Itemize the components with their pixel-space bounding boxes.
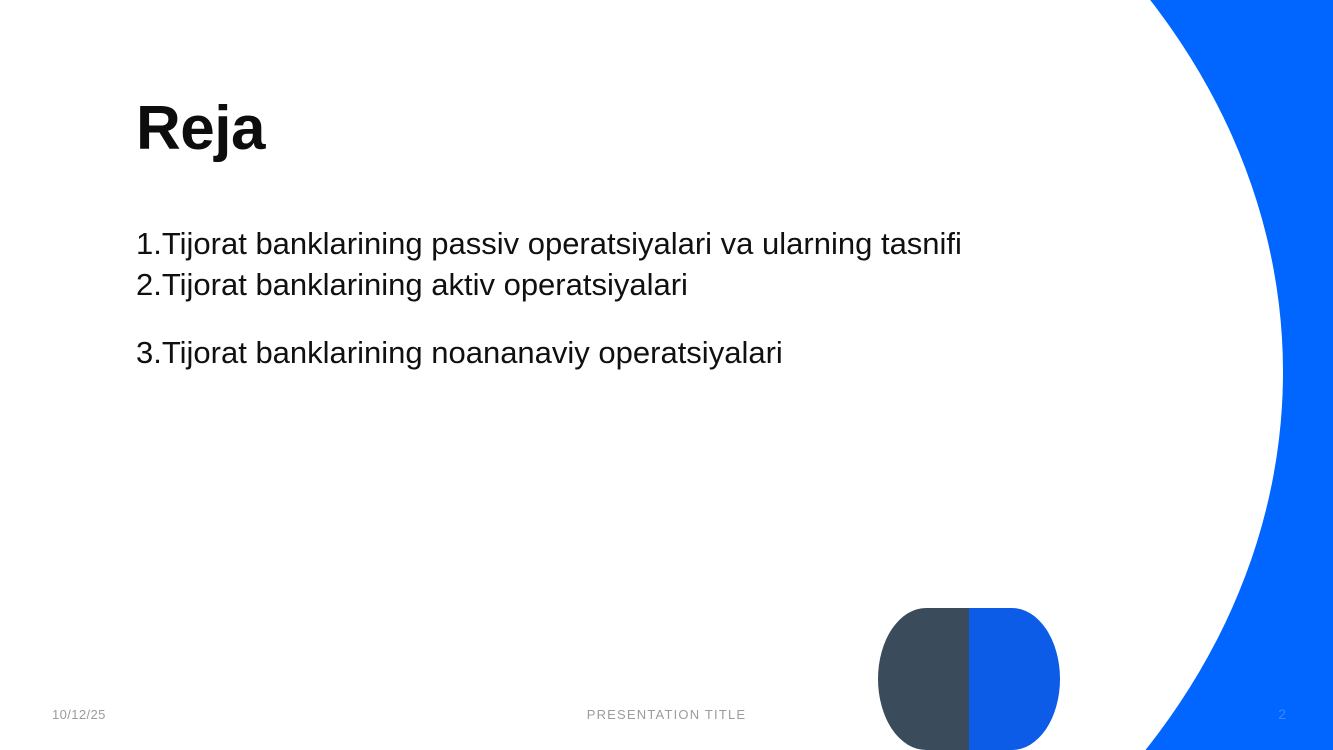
agenda-item-3: 3.Tijorat banklarining noananaviy operat… <box>136 332 1196 373</box>
leaf-petal-right-icon <box>969 608 1060 750</box>
agenda-list: 1.Tijorat banklarining passiv operatsiya… <box>136 223 1196 373</box>
corner-circle-shape <box>0 0 108 100</box>
presentation-slide: Reja 1.Tijorat banklarining passiv opera… <box>0 0 1333 750</box>
agenda-item-2: 2.Tijorat banklarining aktiv operatsiyal… <box>136 264 1196 305</box>
footer-presentation-title: PRESENTATION TITLE <box>0 707 1333 722</box>
slide-number: 2 <box>1278 706 1286 722</box>
leaf-logo <box>878 608 1060 750</box>
page-title: Reja <box>136 96 1196 161</box>
slide-content: Reja 1.Tijorat banklarining passiv opera… <box>136 96 1196 373</box>
leaf-petal-left-icon <box>878 608 969 750</box>
agenda-item-1: 1.Tijorat banklarining passiv operatsiya… <box>136 223 1196 264</box>
